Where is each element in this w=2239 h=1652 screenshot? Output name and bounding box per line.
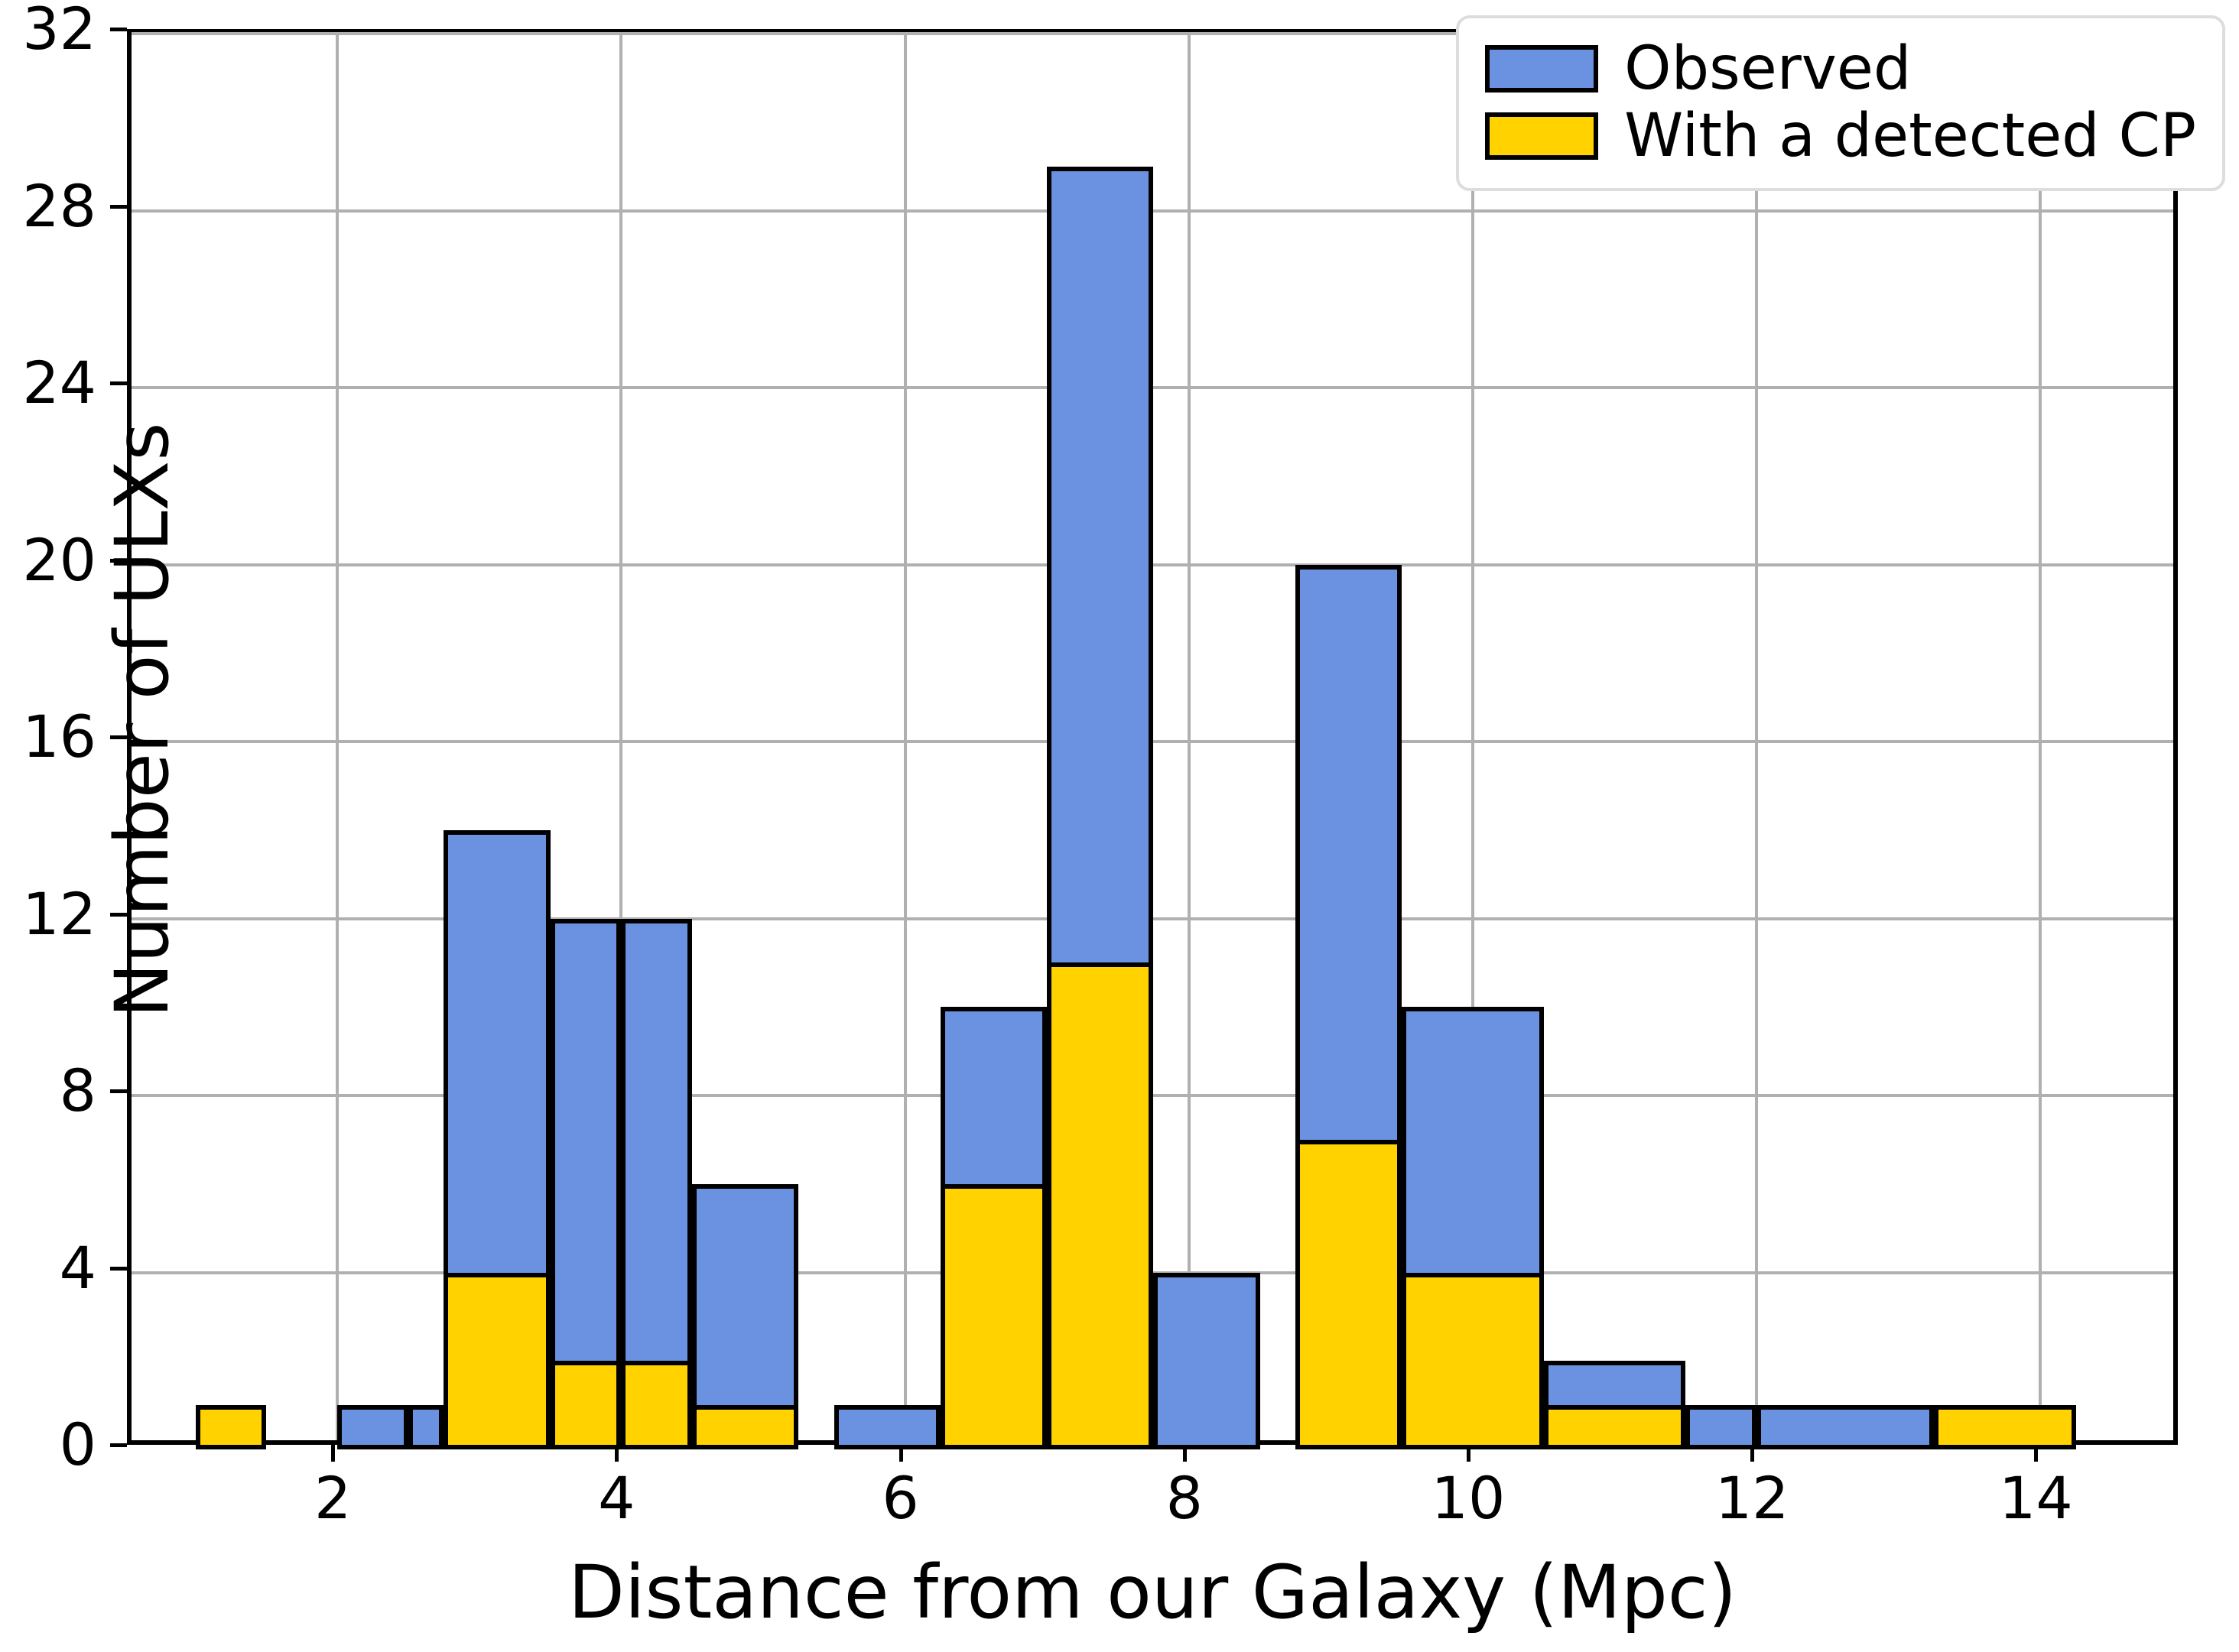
y-tick-label: 20 — [0, 531, 96, 589]
y-tick-label: 0 — [0, 1416, 96, 1474]
bar-observed — [1685, 1405, 1756, 1449]
y-axis-label: Number of ULXs — [106, 12, 179, 1428]
bar-detected-cp — [444, 1273, 550, 1450]
bar-detected-cp — [692, 1405, 798, 1449]
bar-observed — [337, 1405, 408, 1449]
x-tick-label: 8 — [1166, 1469, 1203, 1527]
bar-detected-cp — [941, 1184, 1047, 1449]
plot-area — [127, 29, 2178, 1445]
x-tick-label: 2 — [314, 1469, 351, 1527]
bar-observed — [1153, 1273, 1259, 1450]
bar-detected-cp — [1934, 1405, 2076, 1449]
y-tick-label: 12 — [0, 885, 96, 943]
bar-detected-cp — [1295, 1140, 1402, 1449]
bar-detected-cp — [1402, 1273, 1544, 1450]
legend-label-detected-cp: With a detected CP — [1624, 106, 2196, 166]
x-tick-label: 12 — [1715, 1469, 1789, 1527]
x-tick-label: 10 — [1431, 1469, 1506, 1527]
x-tick-label: 6 — [882, 1469, 918, 1527]
y-tick-label: 4 — [0, 1239, 96, 1297]
x-tick-label: 14 — [1999, 1469, 2073, 1527]
y-tick — [110, 1443, 127, 1447]
y-tick-label: 24 — [0, 354, 96, 412]
x-tick-label: 4 — [598, 1469, 635, 1527]
bar-detected-cp — [1544, 1405, 1686, 1449]
bar-detected-cp — [196, 1405, 267, 1449]
legend: Observed With a detected CP — [1456, 15, 2225, 191]
bar-observed — [834, 1405, 941, 1449]
legend-swatch-observed — [1485, 45, 1598, 92]
x-axis-label: Distance from our Galaxy (Mpc) — [127, 1556, 2178, 1629]
bar-detected-cp — [551, 1361, 622, 1449]
y-tick-label: 16 — [0, 708, 96, 766]
bars-layer — [132, 34, 2173, 1440]
histogram-figure: 2468101214 048121620242832 Distance from… — [0, 0, 2239, 1652]
legend-label-observed: Observed — [1624, 39, 1911, 99]
y-tick-label: 8 — [0, 1062, 96, 1120]
legend-item-observed: Observed — [1485, 35, 2196, 102]
x-tick — [331, 1445, 335, 1462]
bar-observed — [1756, 1405, 1934, 1449]
bar-observed — [408, 1405, 444, 1449]
legend-item-detected-cp: With a detected CP — [1485, 102, 2196, 170]
bar-detected-cp — [621, 1361, 692, 1449]
y-tick-label: 32 — [0, 0, 96, 58]
bar-detected-cp — [1047, 962, 1153, 1449]
y-tick-label: 28 — [0, 177, 96, 235]
legend-swatch-detected-cp — [1485, 112, 1598, 160]
